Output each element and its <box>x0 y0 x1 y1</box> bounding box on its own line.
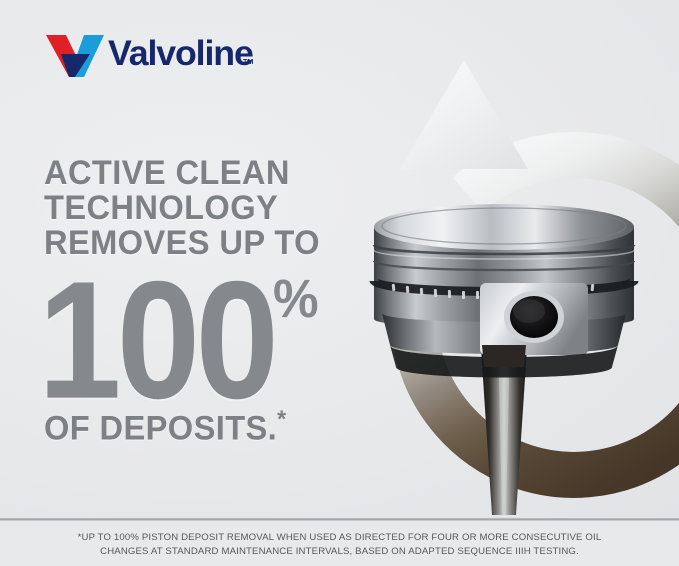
headline-line-1: ACTIVE CLEAN <box>44 156 332 191</box>
callout-percent-symbol: % <box>273 272 319 326</box>
valvoline-v-chevron-icon <box>46 35 104 77</box>
advertisement-banner: Valvoline TM ACTIVE CLEAN TECHNOLOGY REM… <box>0 0 679 566</box>
valvoline-wordmark: Valvoline <box>108 35 253 73</box>
headline-line-2: TECHNOLOGY <box>44 191 332 226</box>
headline: ACTIVE CLEAN TECHNOLOGY REMOVES UP TO <box>44 156 344 261</box>
callout-number: 100 <box>38 262 274 419</box>
callout-subline-text: OF DEPOSITS. <box>44 409 277 447</box>
valvoline-logo[interactable]: Valvoline TM <box>46 33 256 79</box>
disclaimer-line-1: *UP TO 100% PISTON DEPOSIT REMOVAL WHEN … <box>78 531 602 545</box>
hero-artwork <box>330 45 679 525</box>
footer-disclaimer: *UP TO 100% PISTON DEPOSIT REMOVAL WHEN … <box>0 521 679 566</box>
percent-callout: 100 % <box>38 262 338 412</box>
footnote-marker: * <box>277 406 286 433</box>
callout-subline: OF DEPOSITS.* <box>44 402 286 446</box>
disclaimer-line-2: CHANGES AT STANDARD MAINTENANCE INTERVAL… <box>100 545 579 559</box>
trademark-symbol: TM <box>243 59 254 66</box>
